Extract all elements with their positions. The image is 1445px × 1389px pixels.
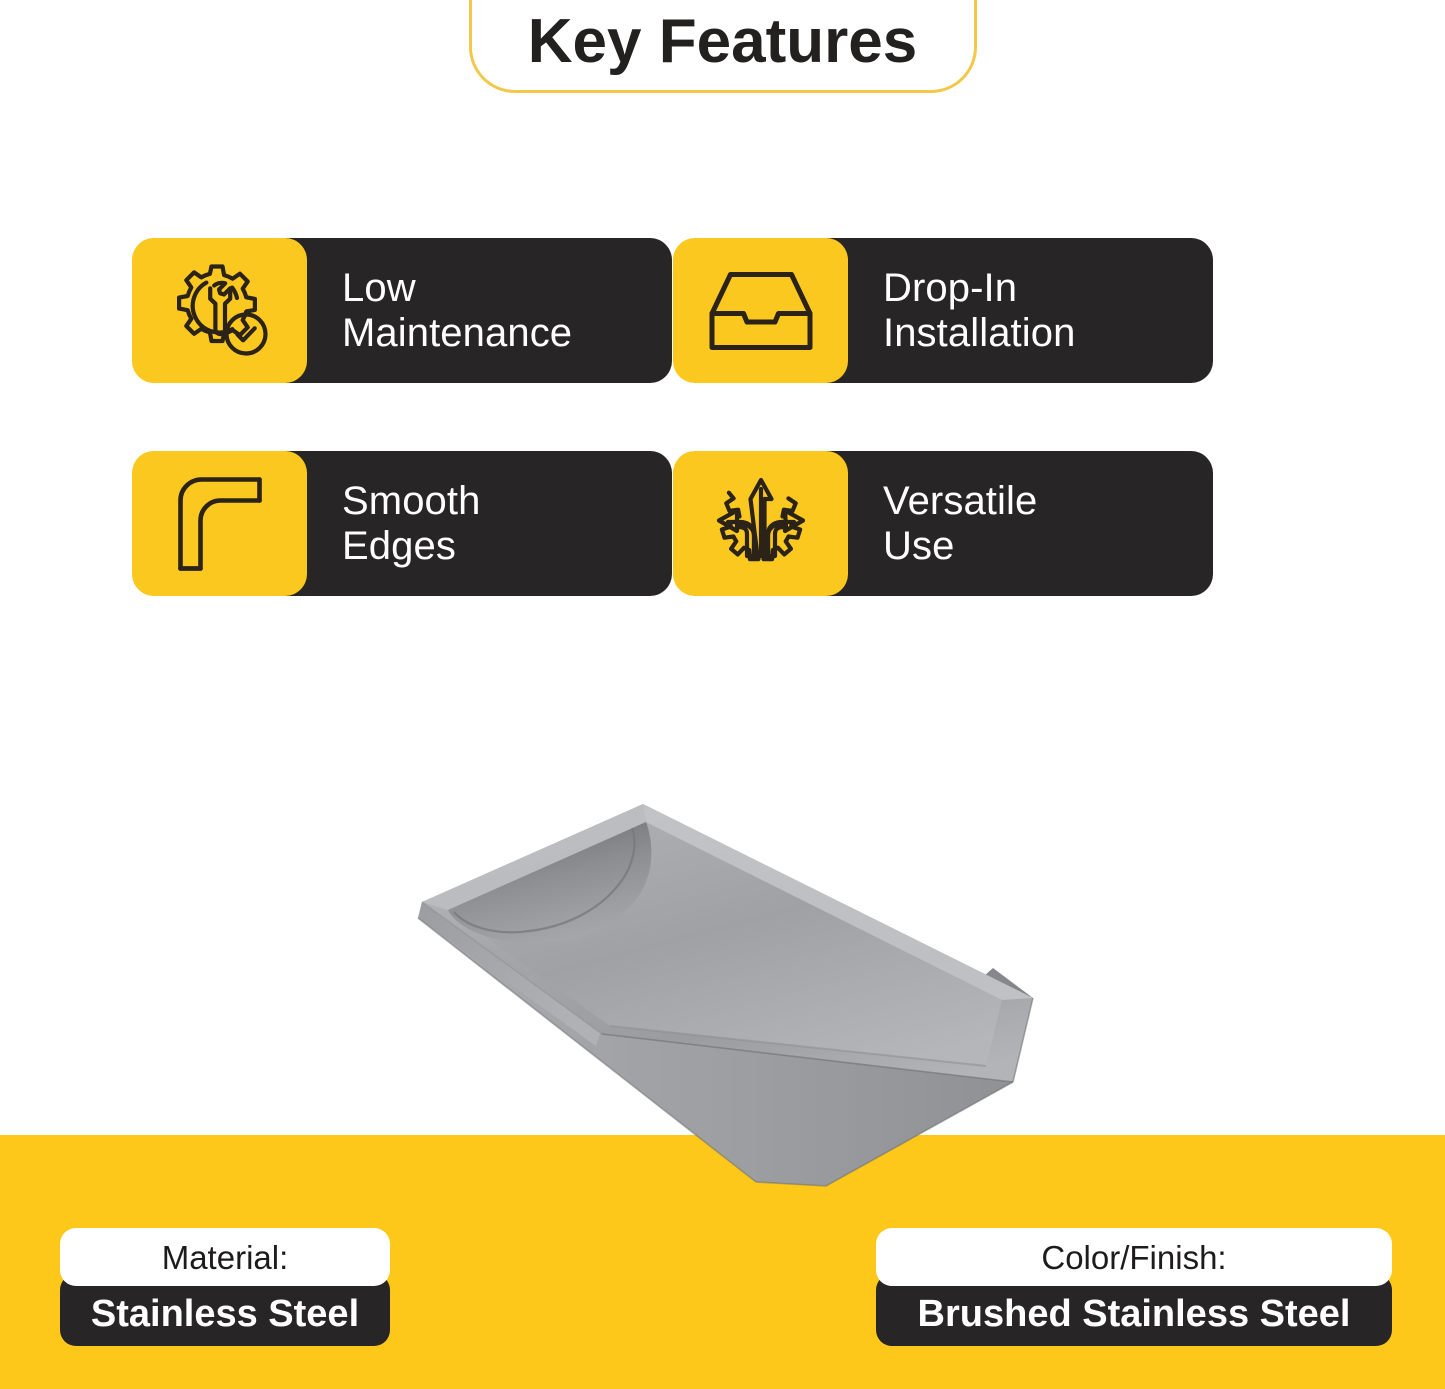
page-title-container: Key Features — [0, 0, 1445, 105]
spec-color-finish: Color/Finish: Brushed Stainless Steel — [876, 1228, 1392, 1346]
feature-label: LowMaintenance — [342, 266, 572, 356]
key-features-grid: LowMaintenance Drop-InInstallation — [132, 238, 1357, 596]
rounded-corner-icon — [132, 451, 307, 596]
spec-label-text: Material: — [162, 1241, 289, 1274]
feature-card-versatile-use[interactable]: VersatileUse — [673, 451, 1213, 596]
spec-label-text: Color/Finish: — [1041, 1241, 1226, 1274]
product-image — [396, 782, 1056, 1192]
page-title: Key Features — [528, 11, 917, 73]
spec-material: Material: Stainless Steel — [60, 1228, 390, 1346]
page-title-frame: Key Features — [469, 0, 977, 93]
spec-label: Color/Finish: — [876, 1228, 1392, 1286]
feature-card-smooth-edges[interactable]: SmoothEdges — [132, 451, 672, 596]
feature-card-drop-in-installation[interactable]: Drop-InInstallation — [673, 238, 1213, 383]
feature-label: SmoothEdges — [342, 479, 480, 569]
gear-wrench-check-icon — [132, 238, 307, 383]
feature-label: Drop-InInstallation — [883, 266, 1075, 356]
spec-label: Material: — [60, 1228, 390, 1286]
feature-card-low-maintenance[interactable]: LowMaintenance — [132, 238, 672, 383]
gear-multi-arrow-icon — [673, 451, 848, 596]
inbox-tray-icon — [673, 238, 848, 383]
feature-label: VersatileUse — [883, 479, 1037, 569]
spec-value-text: Stainless Steel — [91, 1295, 359, 1333]
spec-value-text: Brushed Stainless Steel — [918, 1295, 1351, 1333]
